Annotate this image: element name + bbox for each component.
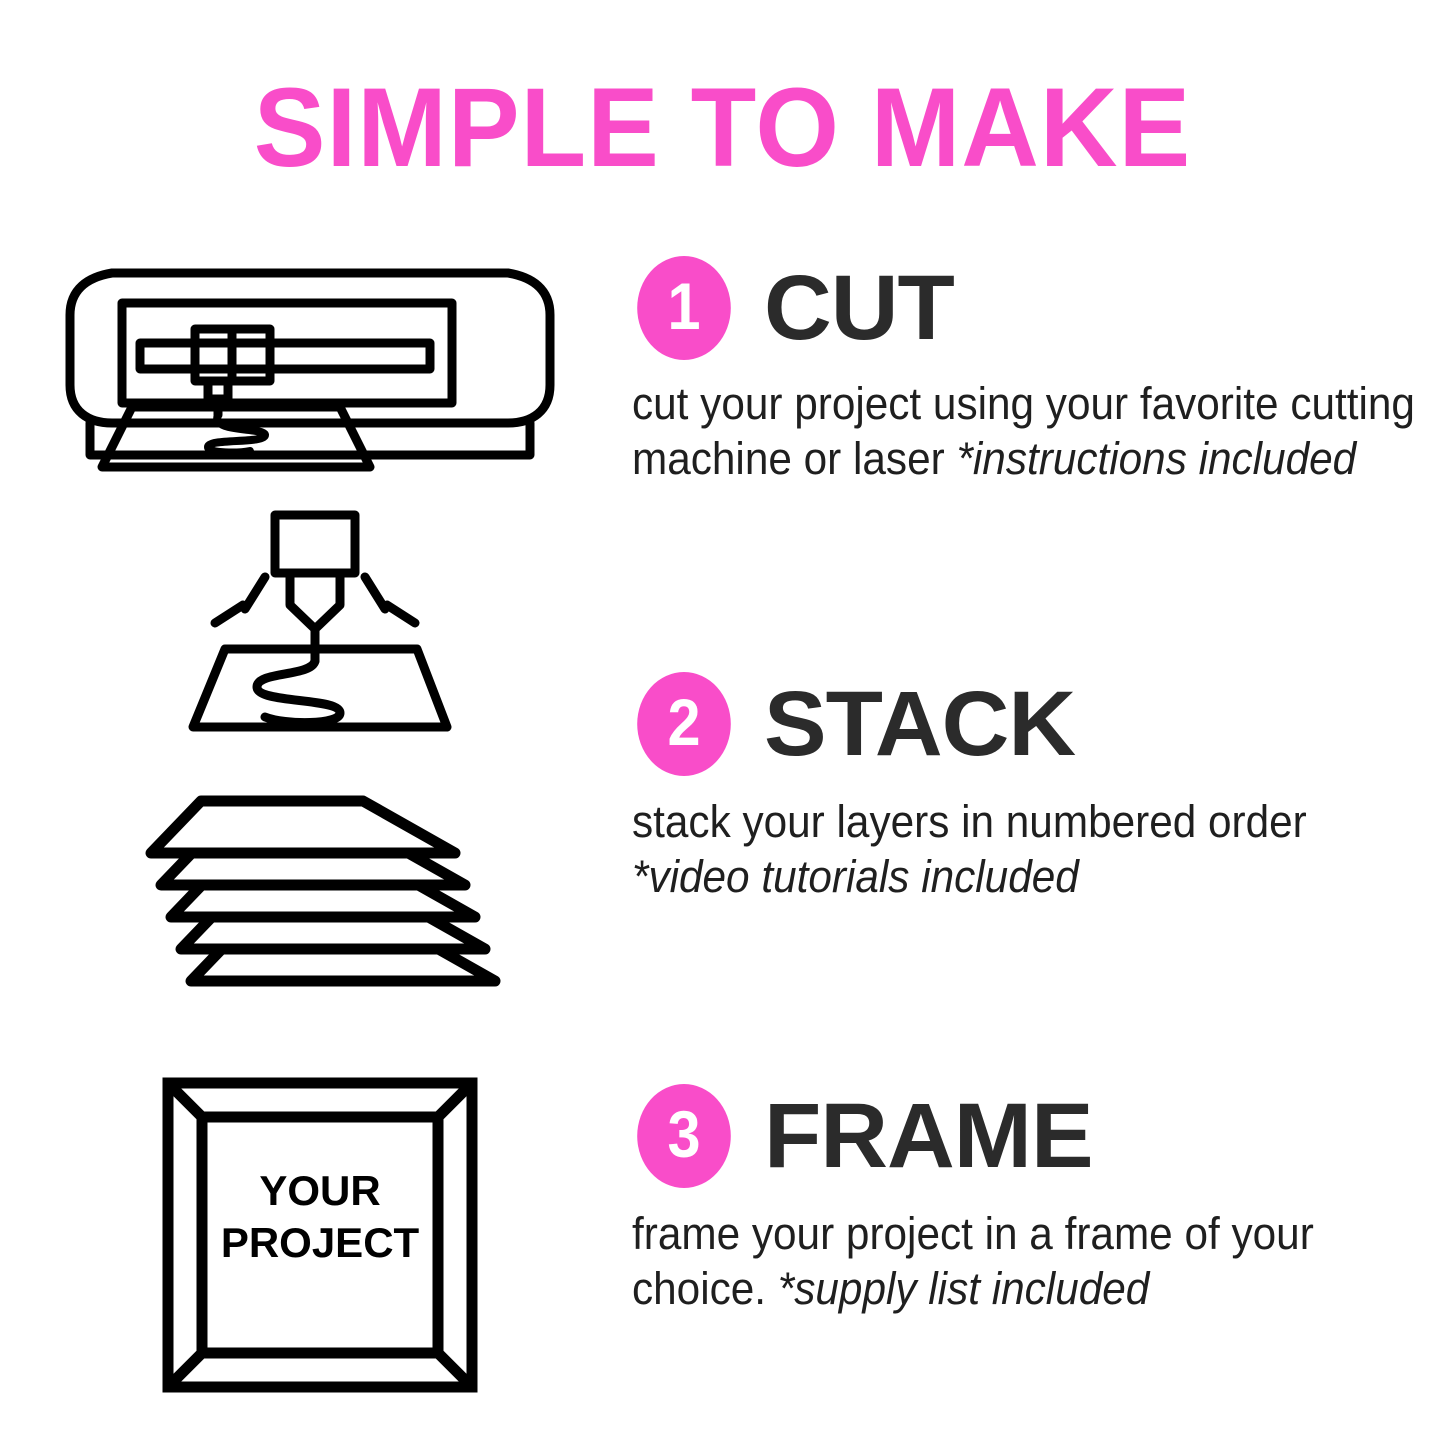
illustration-picture-frame: YOUR PROJECT <box>160 1075 680 1395</box>
cutting-machine-icon <box>60 255 560 485</box>
step-heading-cut: CUT <box>764 262 954 354</box>
illustration-stacked-layers <box>105 785 625 985</box>
step-body-italic-frame: *supply list included <box>778 1263 1150 1314</box>
picture-frame-icon: YOUR PROJECT <box>160 1075 480 1395</box>
step-body-frame: frame your project in a frame of your ch… <box>632 1207 1422 1317</box>
step-row-stack: 2 STACK stack your layers in numbered or… <box>0 655 1445 1005</box>
step-number-badge-2: 2 <box>637 672 731 776</box>
step-copy-stack: 2 STACK stack your layers in numbered or… <box>632 671 1422 905</box>
step-body-plain-stack: stack your layers in numbered order <box>632 796 1307 847</box>
step-number-badge-1: 1 <box>637 256 731 360</box>
step-row-cut: 1 CUT cut your project using your favori… <box>0 255 1445 615</box>
step-heading-row-stack: 2 STACK <box>632 671 1422 777</box>
step-heading-stack: STACK <box>764 678 1075 770</box>
step-number-badge-3: 3 <box>637 1084 731 1188</box>
step-heading-row-cut: 1 CUT <box>632 255 1422 361</box>
page-title: SIMPLE TO MAKE <box>29 72 1416 184</box>
step-row-frame: YOUR PROJECT 3 FRAME frame your project … <box>0 1055 1445 1415</box>
frame-text-line-1: YOUR <box>259 1167 380 1214</box>
step-heading-frame: FRAME <box>764 1090 1093 1182</box>
step-body-italic-stack: *video tutorials included <box>632 851 1079 902</box>
step-body-cut: cut your project using your favorite cut… <box>632 377 1422 487</box>
poster-canvas: SIMPLE TO MAKE <box>0 0 1445 1445</box>
step-copy-frame: 3 FRAME frame your project in a frame of… <box>632 1083 1422 1317</box>
step-copy-cut: 1 CUT cut your project using your favori… <box>632 255 1422 487</box>
step-body-italic-cut: *instructions included <box>956 433 1356 484</box>
step-heading-row-frame: 3 FRAME <box>632 1083 1422 1189</box>
step-body-stack: stack your layers in numbered order *vid… <box>632 795 1422 905</box>
stacked-layers-icon <box>105 785 535 985</box>
frame-text-line-2: PROJECT <box>221 1219 420 1266</box>
